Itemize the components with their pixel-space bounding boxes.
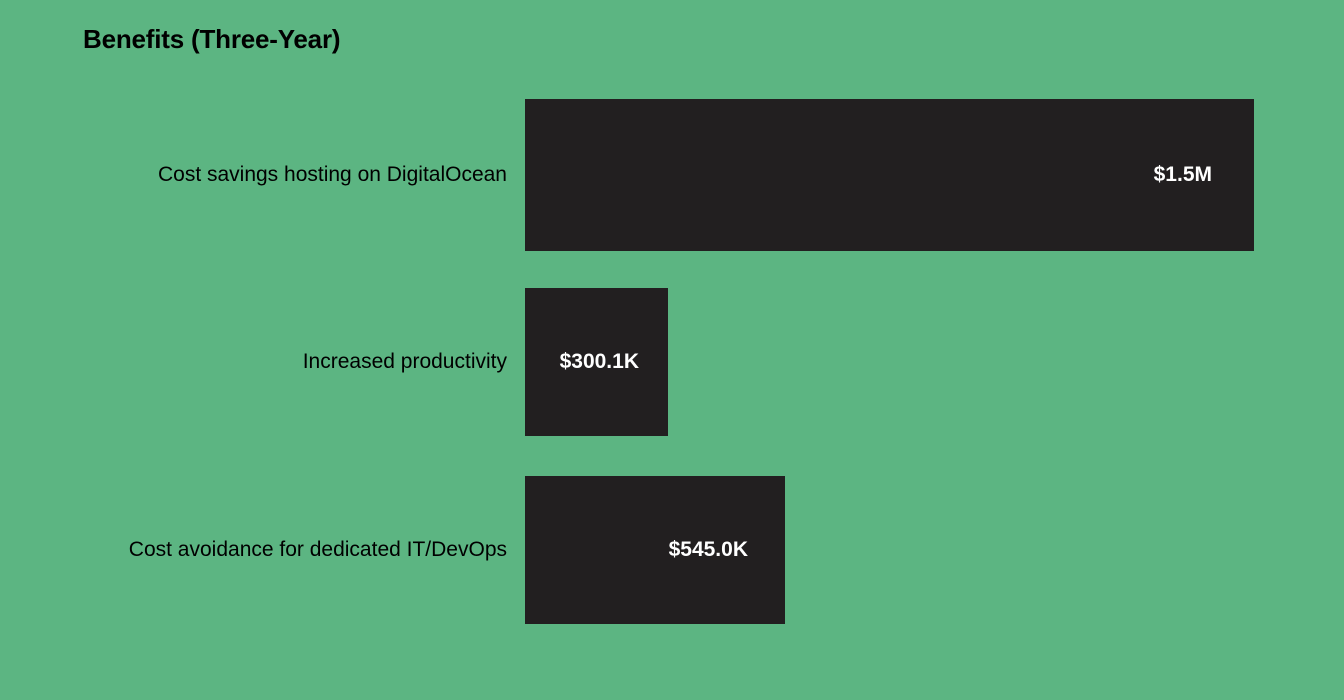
bar-chart: Benefits (Three-Year) Cost savings hosti… — [0, 0, 1344, 700]
bar-track: $1.5M — [525, 99, 1254, 251]
plot-area: Cost savings hosting on DigitalOcean $1.… — [0, 0, 1344, 700]
bar-rect[interactable] — [525, 99, 1254, 251]
bar-value-label: $1.5M — [1154, 99, 1212, 251]
bar-category-label: Cost avoidance for dedicated IT/DevOps — [129, 476, 507, 624]
bar-category-label: Cost savings hosting on DigitalOcean — [158, 99, 507, 251]
bar-row: Increased productivity $300.1K — [0, 288, 1344, 436]
bar-row: Cost avoidance for dedicated IT/DevOps $… — [0, 476, 1344, 624]
bar-category-label: Increased productivity — [303, 288, 507, 436]
bar-value-label: $300.1K — [560, 288, 639, 436]
bar-row: Cost savings hosting on DigitalOcean $1.… — [0, 99, 1344, 251]
bar-track: $545.0K — [525, 476, 785, 624]
bar-track: $300.1K — [525, 288, 668, 436]
bar-value-label: $545.0K — [669, 476, 748, 624]
